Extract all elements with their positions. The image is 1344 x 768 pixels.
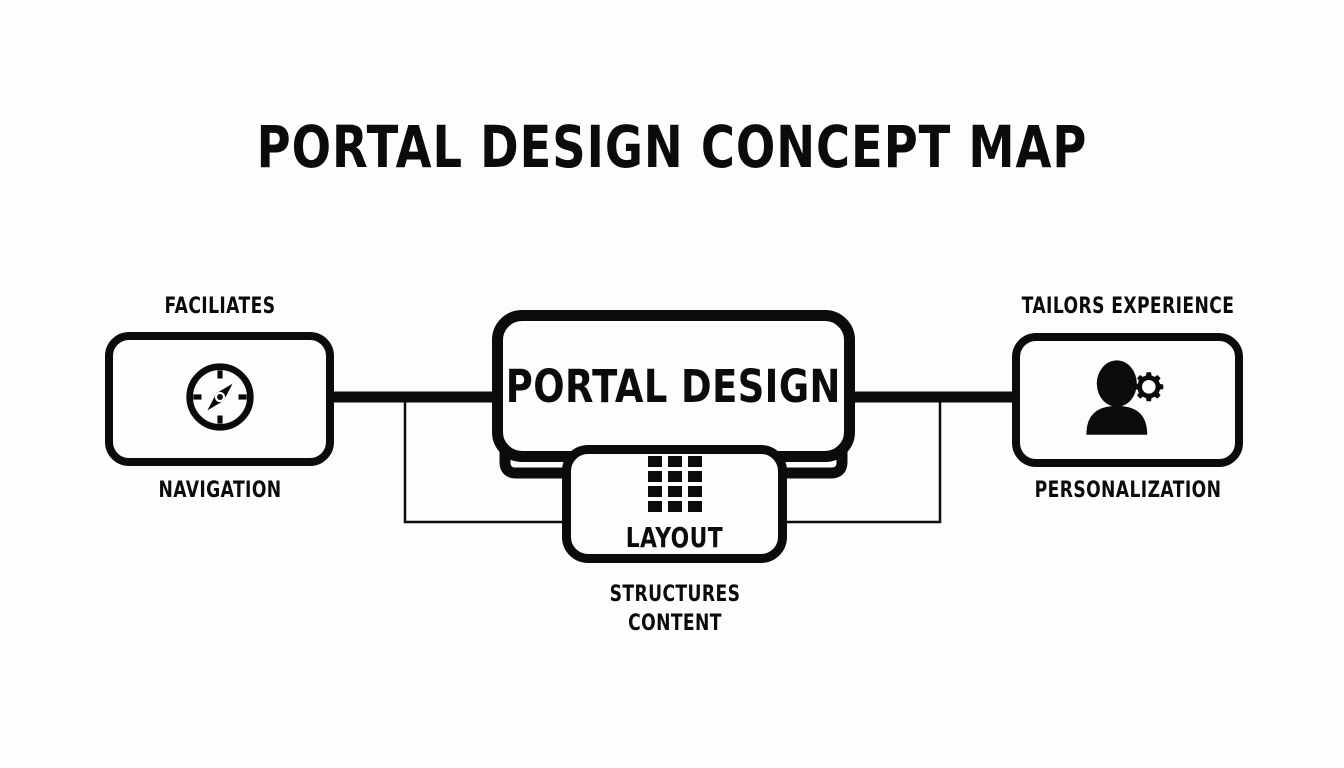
relation-label-faciliates: FACILIATES [95,294,345,319]
node-label-navigation: NAVIGATION [95,478,345,503]
relation-label-structures-content: STRUCTURES CONTENT [565,581,785,638]
diagram-canvas: PORTAL DESIGN CONCEPT MAP FACILIATES [0,0,1344,768]
relation-label-structures-line2: CONTENT [589,610,761,639]
node-label-personalization: PERSONALIZATION [1003,478,1253,503]
node-portal-design[interactable]: PORTAL DESIGN [492,310,855,462]
node-navigation[interactable] [105,332,334,466]
node-label-layout: LAYOUT [626,521,723,554]
user-gear-icon [1080,358,1176,443]
relation-label-tailors-experience: TAILORS EXPERIENCE [1003,294,1253,319]
grid-icon [646,454,704,517]
node-layout[interactable]: LAYOUT [562,445,787,563]
node-label-portal-design: PORTAL DESIGN [506,360,841,413]
relation-label-structures-line1: STRUCTURES [589,581,761,610]
compass-icon [183,360,257,439]
node-personalization[interactable] [1012,333,1243,467]
